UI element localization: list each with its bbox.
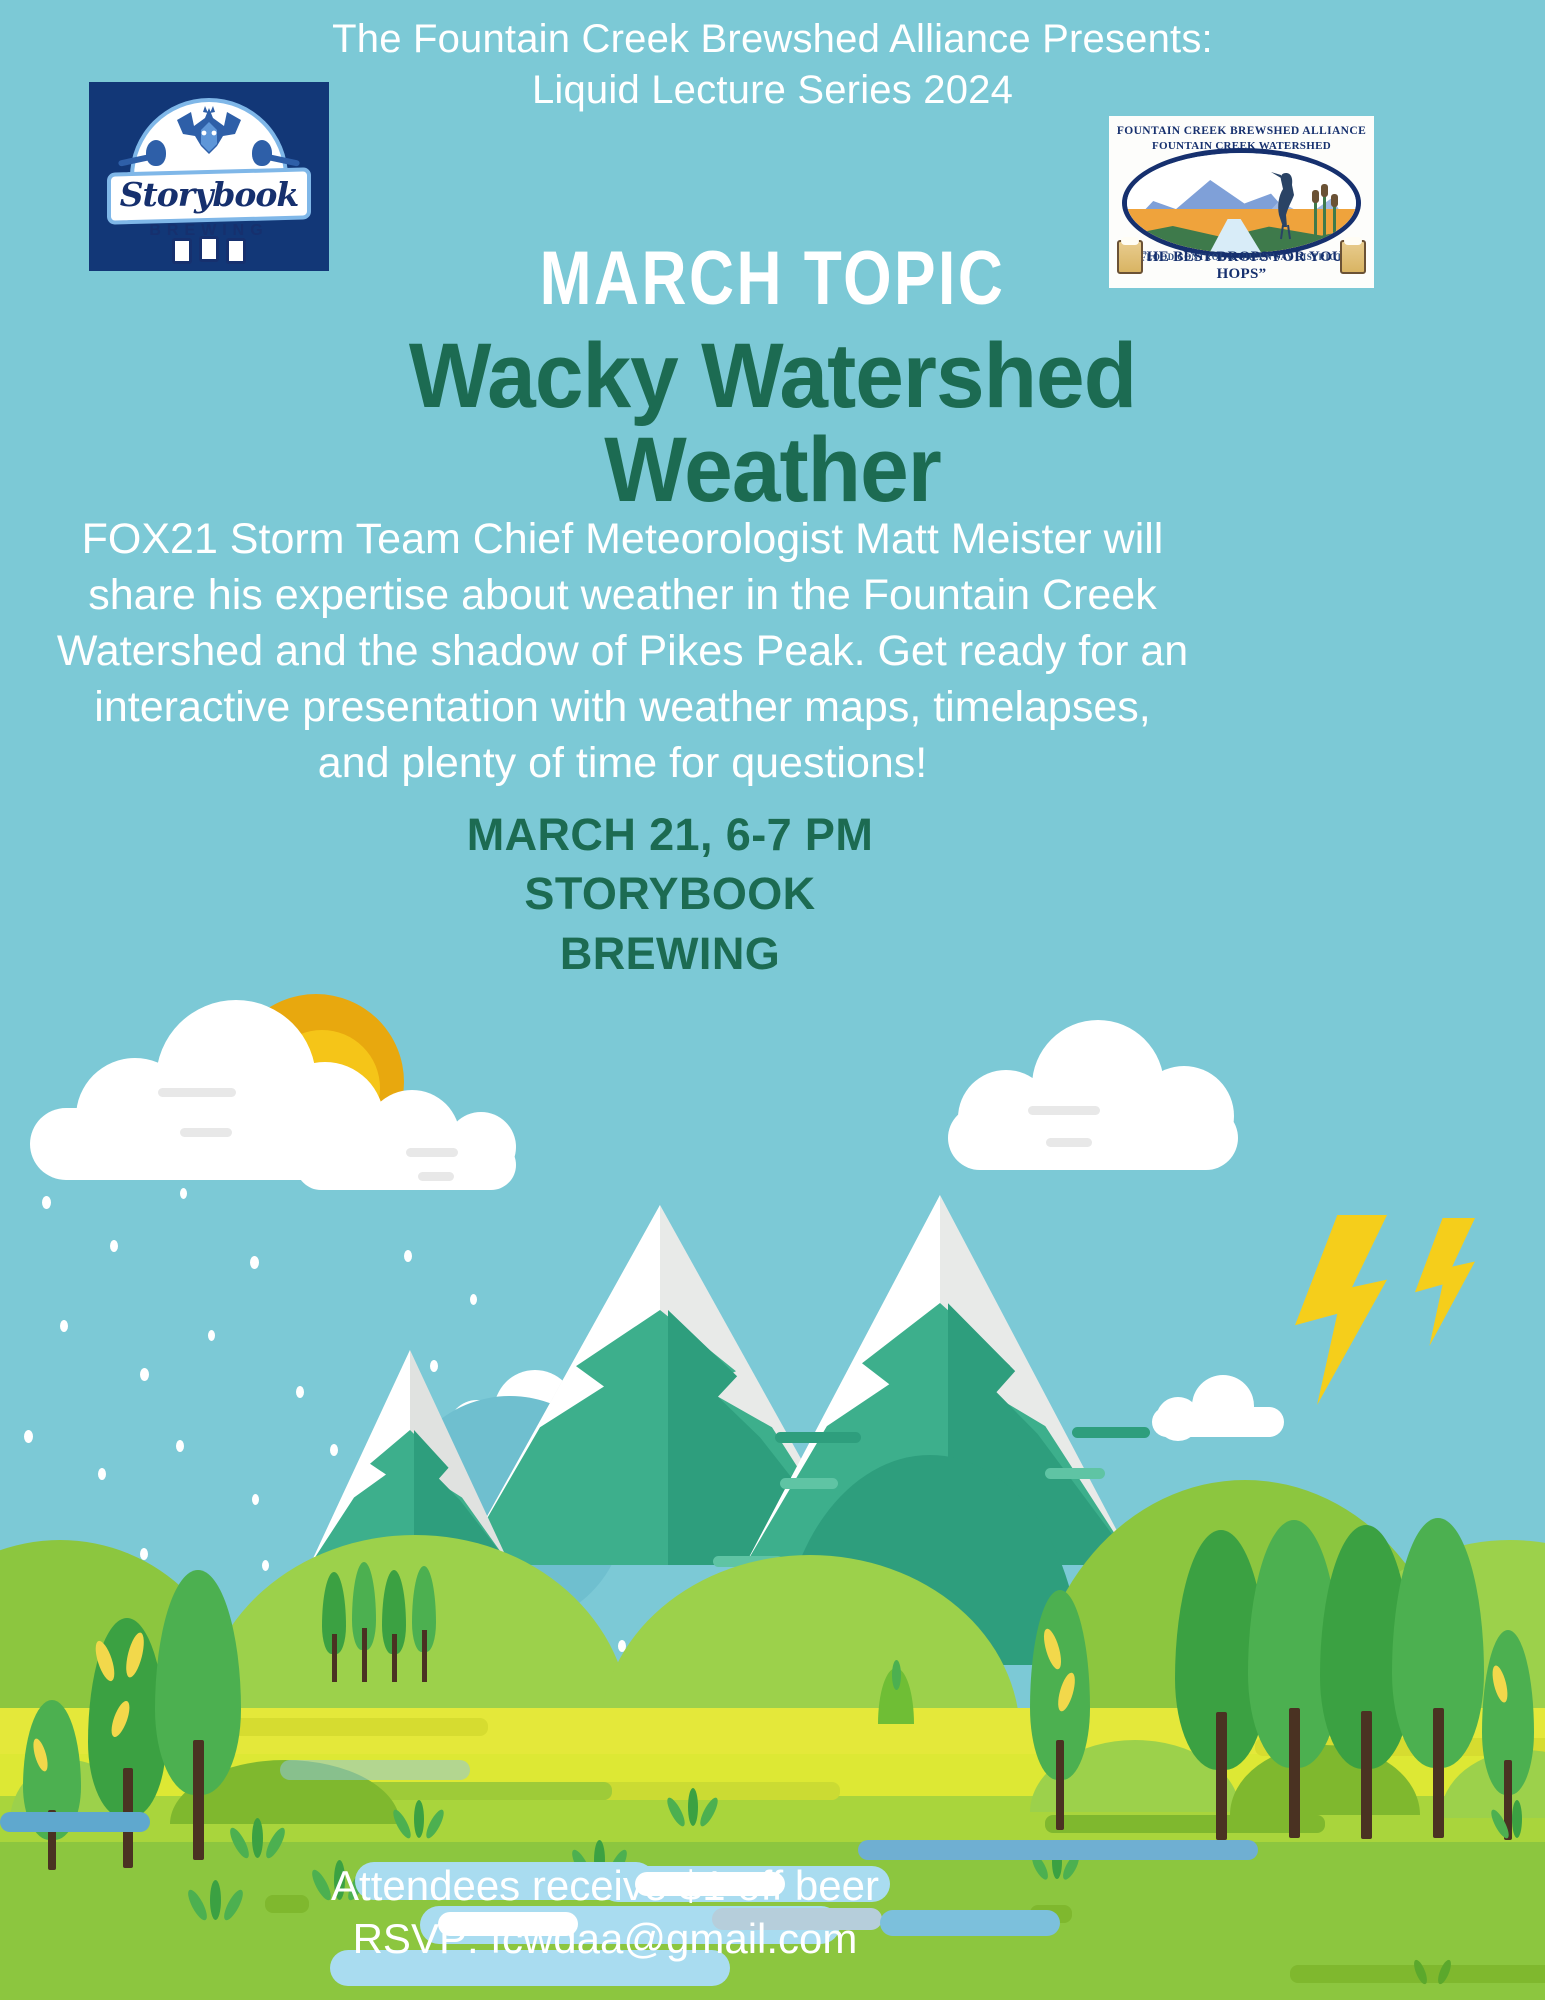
event-venue-line-2: BREWING xyxy=(390,924,950,983)
storybook-brewing-logo: Storybook BREWING xyxy=(89,82,329,271)
header-line-1: The Fountain Creek Brewshed Alliance Pre… xyxy=(0,14,1545,65)
beer-mugs-icon xyxy=(172,236,246,266)
reeds-icon xyxy=(1312,185,1342,243)
hop-cone-icon xyxy=(252,140,272,166)
event-flyer: The Fountain Creek Brewshed Alliance Pre… xyxy=(0,0,1545,2000)
tree-icon xyxy=(155,1570,241,1860)
river-icon xyxy=(858,1840,1258,1860)
brewshed-arc-top: FOUNTAIN CREEK BREWSHED ALLIANCE xyxy=(1109,125,1374,137)
mountain-streak-icon xyxy=(1045,1468,1105,1479)
lightning-bolt-icon xyxy=(1295,1215,1387,1405)
dragon-head-icon xyxy=(167,106,251,164)
cloud-icon xyxy=(948,1020,1238,1170)
tree-icon xyxy=(352,1562,376,1682)
mountain-streak-icon xyxy=(780,1478,838,1489)
description-line-4: interactive presentation with weather ma… xyxy=(40,680,1205,736)
hop-cone-icon xyxy=(146,140,166,166)
brewshed-scene-oval xyxy=(1122,148,1361,258)
grass-icon xyxy=(1490,1800,1545,1840)
grass-icon xyxy=(392,1800,448,1840)
footer-offer: Attendees receive $1 off beer xyxy=(0,1860,1210,1913)
description-line-5: and plenty of time for questions! xyxy=(40,736,1205,792)
grass-icon xyxy=(228,1818,288,1860)
tree-icon xyxy=(1392,1518,1484,1838)
title-line-2: Weather xyxy=(39,424,1507,518)
mountain-streak-icon xyxy=(775,1432,861,1443)
storybook-wordmark: Storybook xyxy=(104,175,314,214)
beer-mug-icon xyxy=(1117,240,1143,274)
tree-icon xyxy=(322,1572,346,1682)
description-paragraph: FOX21 Storm Team Chief Meteorologist Mat… xyxy=(40,512,1205,791)
footer-info: Attendees receive $1 off beer RSVP: fcwd… xyxy=(0,1860,1210,1966)
title-line-1: Wacky Watershed xyxy=(39,330,1507,424)
mountain-streak-icon xyxy=(1072,1427,1150,1438)
event-venue-line-1: STORYBOOK xyxy=(390,864,950,923)
mountain-icon xyxy=(310,1350,510,1565)
event-datetime: MARCH 21, 6-7 PM xyxy=(390,805,950,864)
river-icon xyxy=(280,1760,470,1780)
meadow-streak xyxy=(228,1718,488,1736)
heron-icon xyxy=(1270,163,1304,241)
description-line-1: FOX21 Storm Team Chief Meteorologist Mat… xyxy=(40,512,1205,568)
cloud-icon xyxy=(1152,1375,1284,1437)
brewshed-tagline: “THE BEST DROPS FOR YOUR HOPS” xyxy=(1109,249,1374,283)
grass-icon xyxy=(666,1788,722,1828)
event-details: MARCH 21, 6-7 PM STORYBOOK BREWING xyxy=(390,805,950,983)
beer-mug-icon xyxy=(1340,240,1366,274)
grass-icon xyxy=(1410,1955,1460,1985)
river-icon xyxy=(0,1812,150,1832)
tree-icon xyxy=(412,1566,436,1682)
fountain-creek-brewshed-alliance-logo: FOUNTAIN CREEK BREWSHED ALLIANCE FOUNTAI… xyxy=(1109,116,1374,288)
cloud-icon xyxy=(296,1090,516,1190)
bush-icon xyxy=(878,1660,914,1724)
footer-rsvp-email[interactable]: RSVP: fcwdaa@gmail.com xyxy=(0,1913,1210,1966)
tree-icon xyxy=(23,1700,81,1870)
page-title: Wacky Watershed Weather xyxy=(39,330,1507,518)
description-line-3: Watershed and the shadow of Pikes Peak. … xyxy=(40,624,1205,680)
tree-icon xyxy=(382,1570,406,1682)
lightning-bolt-icon xyxy=(1415,1218,1475,1346)
description-line-2: share his expertise about weather in the… xyxy=(40,568,1205,624)
